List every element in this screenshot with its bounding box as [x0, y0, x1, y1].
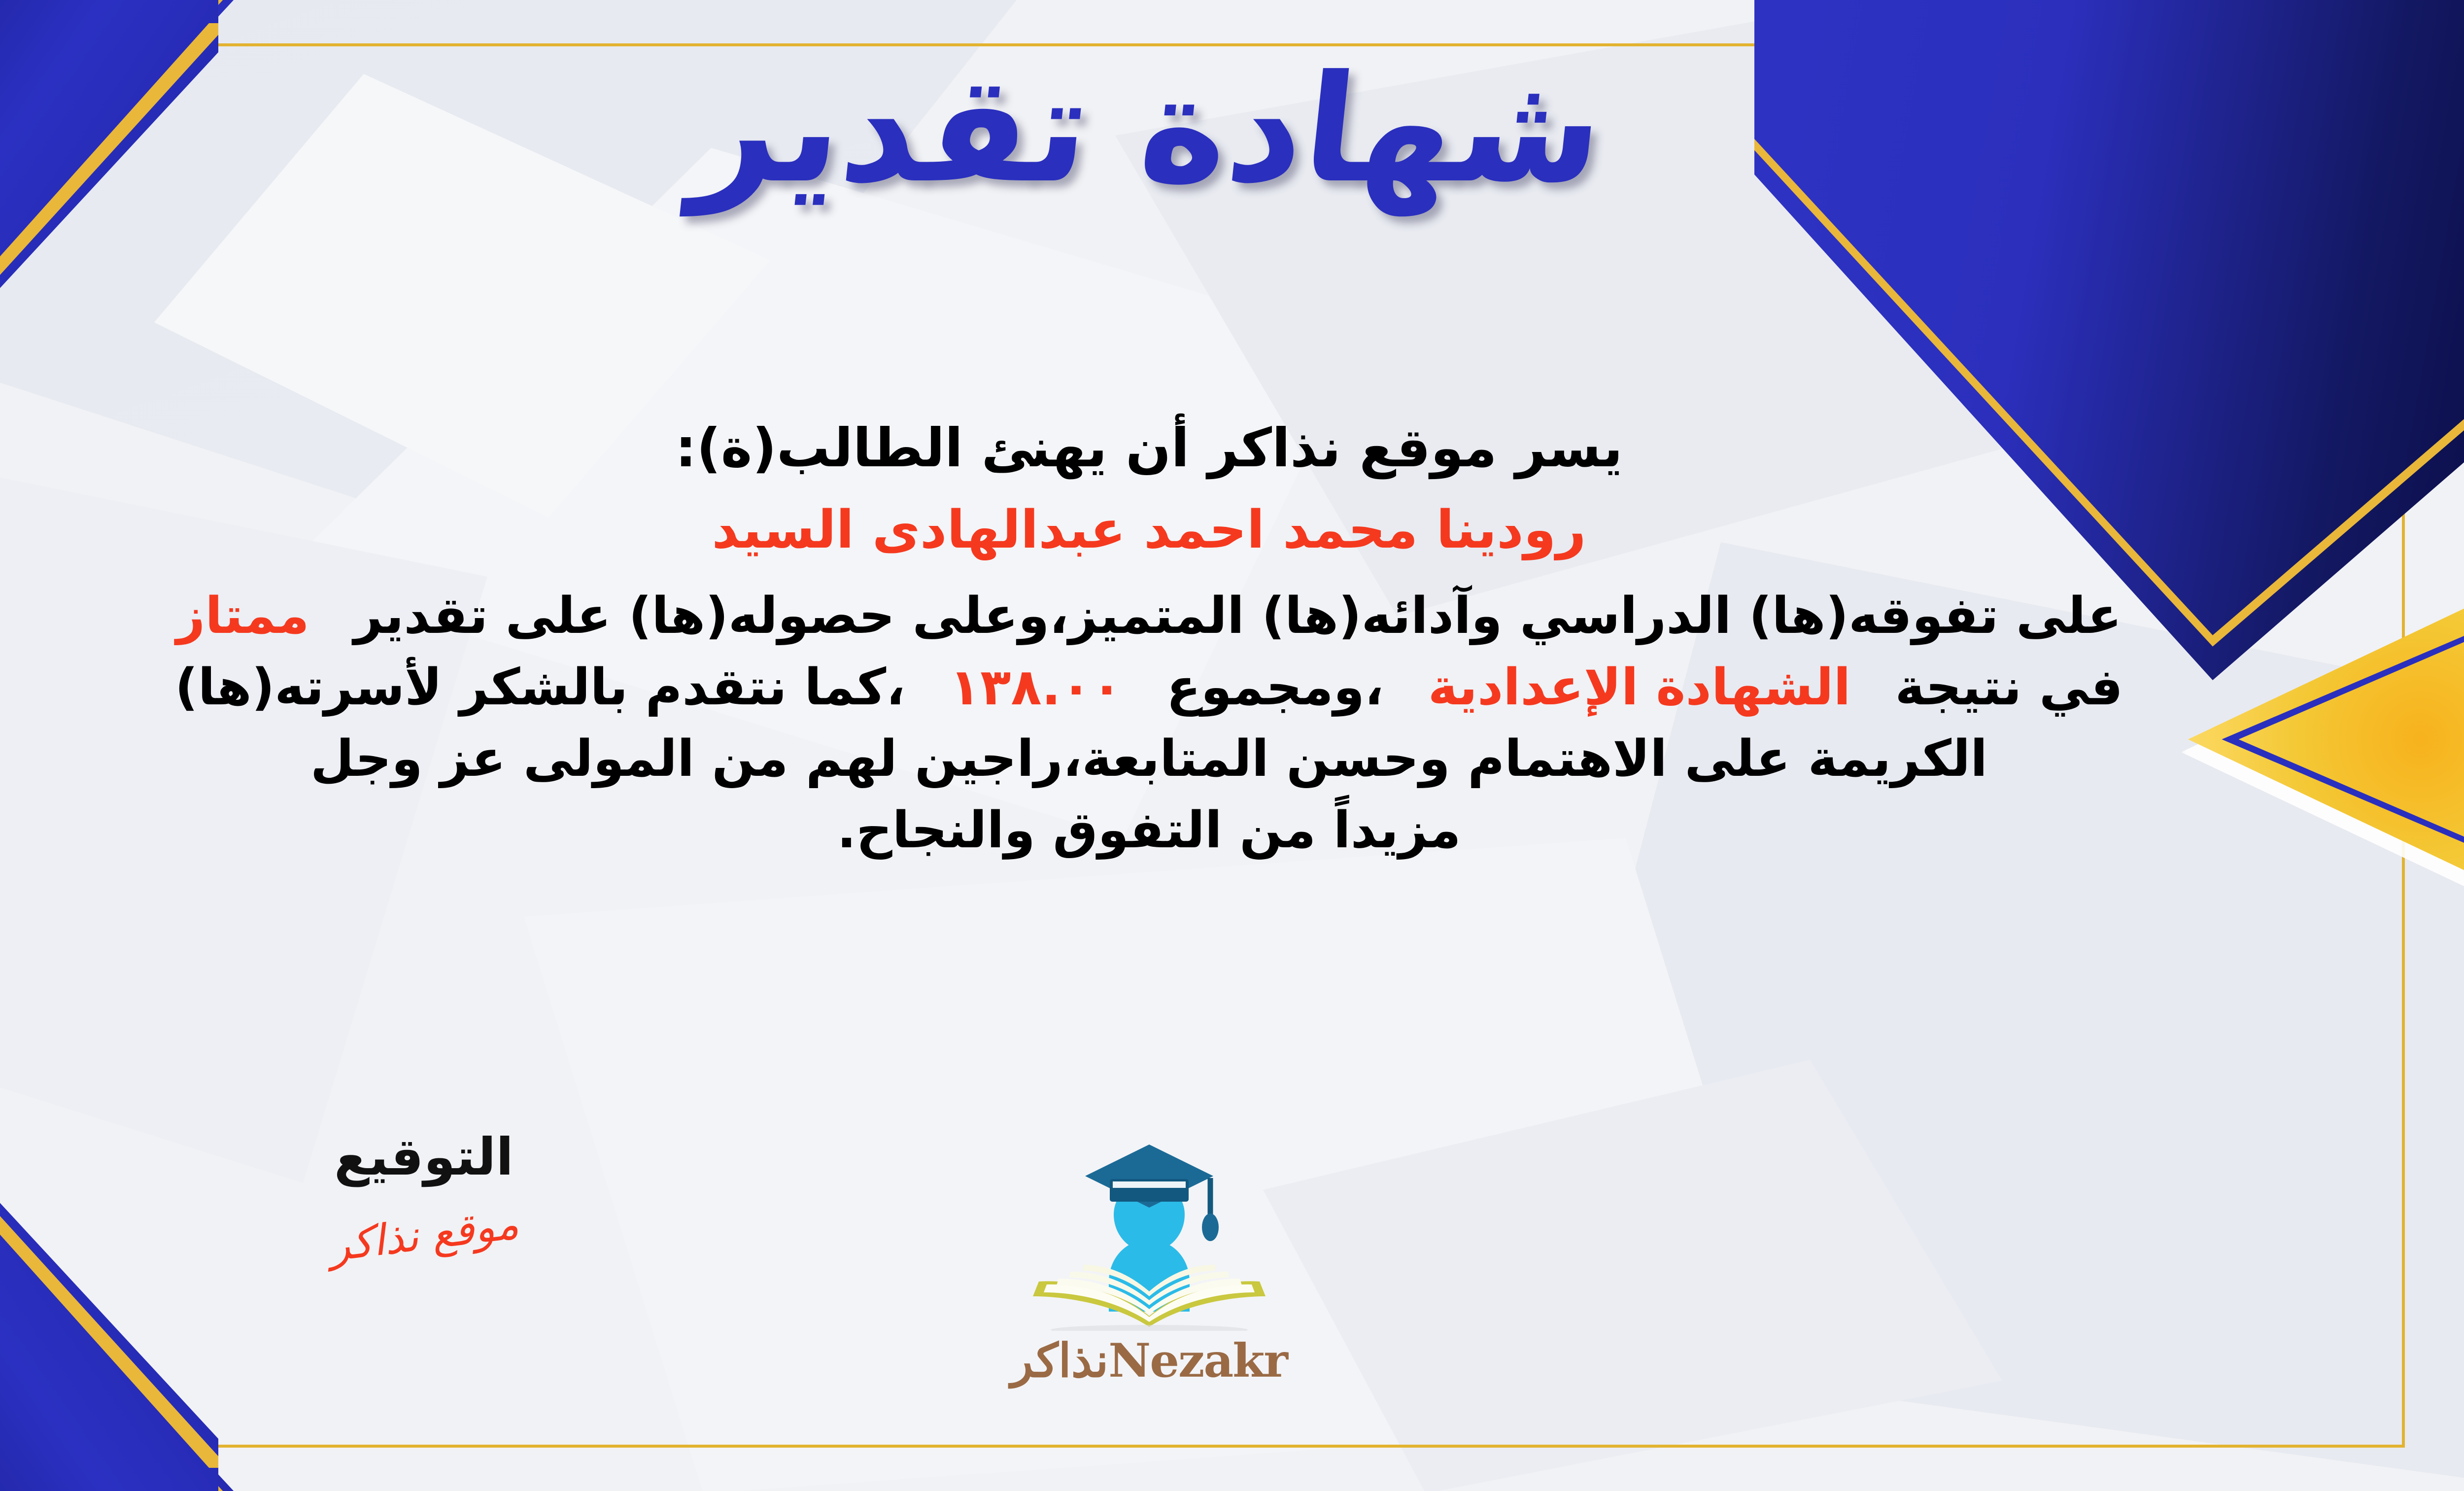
achievement-line3: الكريمة على الاهتمام وحسن المتابعة،راجين… — [310, 729, 1987, 788]
intro-line: يسر موقع نذاكر أن يهنئ الطالب(ة): — [0, 414, 2306, 483]
logo-mark — [992, 1134, 1307, 1331]
total-score: ١٣٨.٠٠ — [950, 658, 1122, 717]
achievement-text-part3: ،ومجموع — [1166, 658, 1384, 717]
exam-name: الشهادة الإعدادية — [1428, 658, 1851, 717]
grade-value: ممتاز — [176, 587, 309, 645]
logo-graphic — [992, 1134, 1307, 1331]
achievement-text-part2: في نتيجة — [1895, 658, 2123, 717]
achievement-text-part1: على تفوقه(ها) الدراسي وآدائه(ها) المتميز… — [354, 587, 2122, 645]
logo-brand-text: Nezakrنذاكر — [972, 1334, 1327, 1388]
brand-logo: Nezakrنذاكر — [972, 1134, 1327, 1388]
signature-label: التوقيع — [266, 1129, 582, 1185]
signature-block: التوقيع موقع نذاكر — [266, 1129, 582, 1260]
certificate-title: شهادة تقدير — [687, 52, 1611, 207]
achievement-line4: مزيداً من التفوق والنجاح. — [837, 801, 1461, 860]
certificate-canvas: شهادة تقدير يسر موقع نذاكر أن يهنئ الطال… — [0, 0, 2464, 1491]
signature-mark: موقع نذاكر — [326, 1199, 521, 1271]
achievement-text-part4: ،كما نتقدم بالشكر لأسرته(ها) — [175, 658, 905, 717]
certificate-footer: التوقيع موقع نذاكر — [0, 1129, 2464, 1444]
certificate-body: يسر موقع نذاكر أن يهنئ الطالب(ة): رودينا… — [0, 414, 2306, 867]
student-name: رودينا محمد احمد عبدالهادى السيد — [0, 496, 2306, 564]
achievement-paragraph: على تفوقه(ها) الدراسي وآدائه(ها) المتميز… — [0, 581, 2306, 866]
certificate-title-area: شهادة تقدير — [0, 52, 2464, 207]
